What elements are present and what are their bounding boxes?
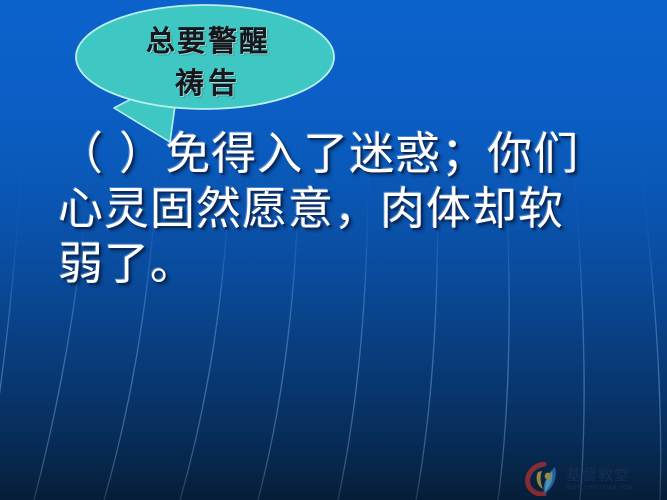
flame-figure-logo-icon — [524, 462, 564, 496]
watermark: 基督教堂 WWW.CHRISTIAN.COM — [524, 460, 664, 498]
verse-line-3: 弱了。 — [58, 236, 658, 291]
watermark-text: 基督教堂 WWW.CHRISTIAN.COM — [566, 468, 632, 491]
verse-line-1: （ ）免得入了迷惑；你们 — [58, 126, 658, 181]
verse-text: （ ）免得入了迷惑；你们 心灵固然愿意，肉体却软 弱了。 — [58, 126, 658, 291]
slide-canvas: 总要警醒 祷告 （ ）免得入了迷惑；你们 心灵固然愿意，肉体却软 弱了。 基督教… — [0, 0, 667, 500]
watermark-title: 基督教堂 — [566, 468, 632, 483]
watermark-subtitle: WWW.CHRISTIAN.COM — [566, 486, 632, 491]
verse-line-2: 心灵固然愿意，肉体却软 — [58, 181, 658, 236]
speech-bubble-shape — [76, 5, 334, 142]
